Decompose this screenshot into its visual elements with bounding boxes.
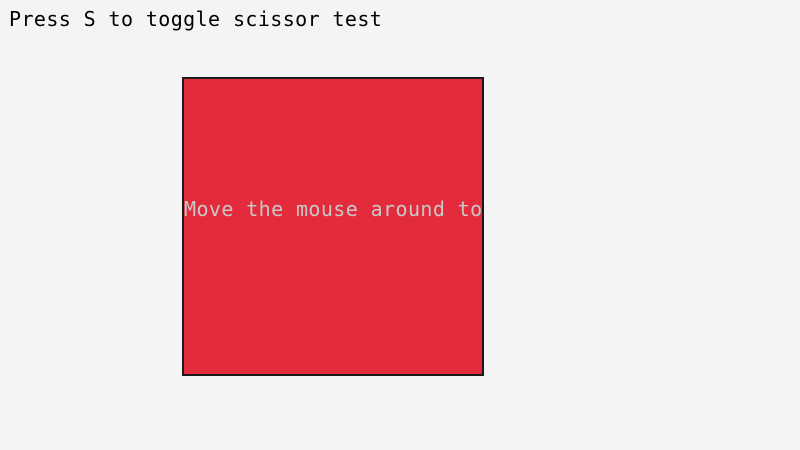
scissor-toggle-hint-text: Press S to toggle scissor test [9,7,382,31]
scissor-region[interactable]: Move the mouse around to r [182,77,484,376]
app-canvas: Press S to toggle scissor test Move the … [0,0,800,450]
scissor-region-fill [184,79,482,374]
hint-bar: Press S to toggle scissor test [0,0,800,40]
scissor-clipped-label: Move the mouse around to r [184,197,484,221]
